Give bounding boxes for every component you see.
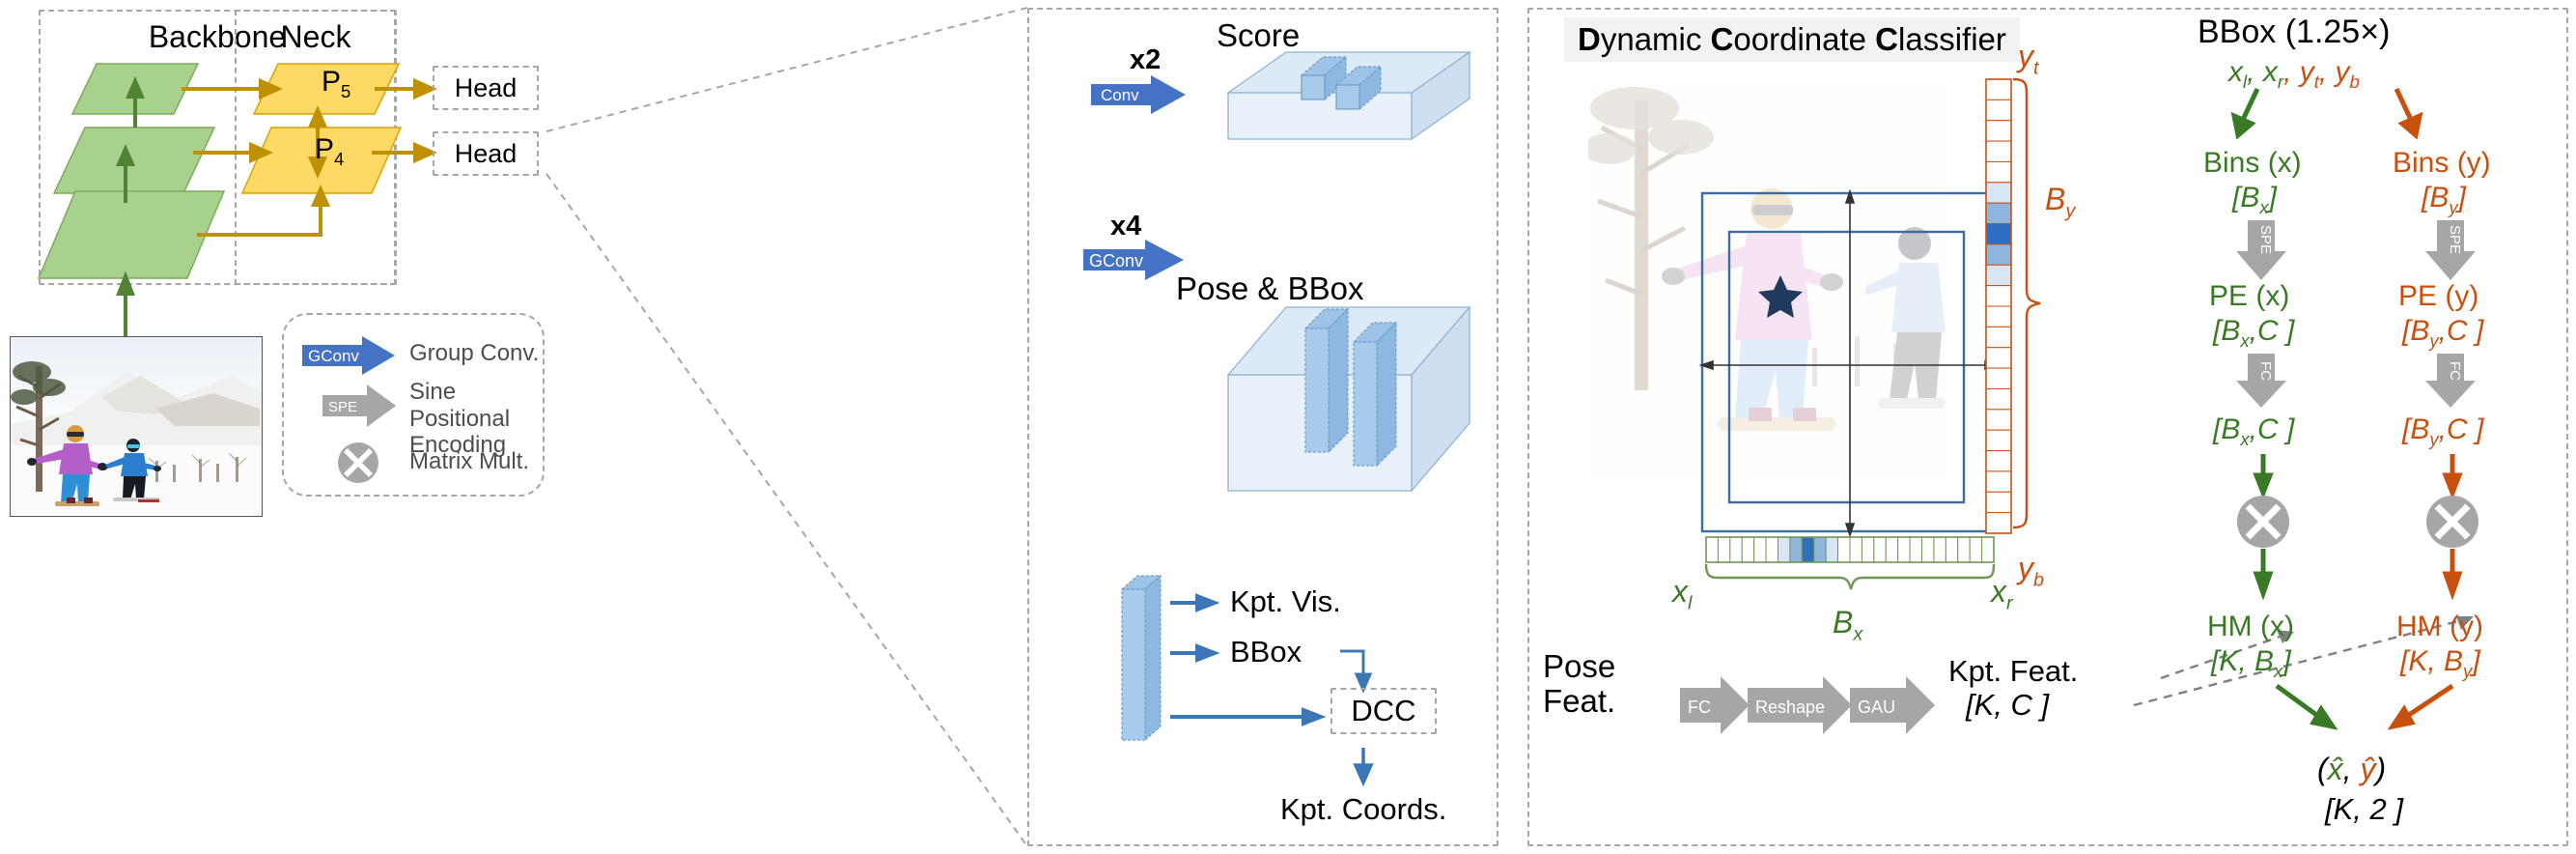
zoom-connector-lines bbox=[537, 0, 1039, 854]
y-bin-cell bbox=[1986, 410, 2011, 430]
bins-y-shape: [By] bbox=[2422, 182, 2466, 218]
pose-feat-line2: Feat. bbox=[1543, 684, 1615, 719]
coord-yb: yb bbox=[2336, 56, 2360, 88]
y-bin-cell bbox=[1986, 451, 2011, 471]
head-box-1[interactable]: Head bbox=[433, 66, 539, 110]
bins-x-shape-main: B bbox=[2240, 182, 2259, 213]
y-bottom-label: yb bbox=[2018, 551, 2044, 591]
kpt-feat-result: Kpt. Feat. [K, C ] bbox=[1948, 655, 2078, 722]
final-coords: (x̂, ŷ) bbox=[2317, 752, 2386, 787]
head-box-2[interactable]: Head bbox=[433, 131, 539, 176]
y-bin-cell bbox=[1986, 265, 2011, 285]
y-bins-main: B bbox=[2045, 182, 2065, 216]
pe-y-label: PE (y) bbox=[2398, 280, 2478, 313]
pe-x-label: PE (x) bbox=[2209, 280, 2289, 313]
reshape-arrow-label: Reshape bbox=[1755, 697, 1825, 717]
x-left-main: x bbox=[1672, 574, 1688, 609]
coord-split-arrows bbox=[2211, 89, 2539, 145]
pose-feat-source: Pose Feat. bbox=[1543, 649, 1615, 720]
x-bins-sub: x bbox=[1853, 623, 1862, 644]
gau-arrow-label: GAU bbox=[1858, 697, 1895, 717]
dcc-box-label: DCC bbox=[1351, 694, 1415, 728]
bins-y-label: Bins (y) bbox=[2393, 147, 2491, 180]
legend-label-gconv: Group Conv. bbox=[409, 340, 539, 367]
bbox-panel-title: BBox (1.25×) bbox=[2198, 14, 2390, 51]
x-left-label: xl bbox=[1672, 574, 1692, 614]
y-bin-cell bbox=[1986, 79, 2011, 100]
x-bin-cell bbox=[1718, 537, 1729, 562]
spe-arrow-y-label: SPE bbox=[2447, 225, 2463, 254]
fc-arrow-y: FC bbox=[2425, 354, 2476, 408]
pe-x-out-shape: [Bx,C ] bbox=[2213, 413, 2294, 450]
conv-arrow-label: Conv bbox=[1101, 86, 1139, 104]
kpt-vis-label: Kpt. Vis. bbox=[1230, 584, 1341, 619]
pose-bbox-multiplier: x4 bbox=[1110, 211, 1141, 242]
coord-yt: yt bbox=[2300, 56, 2319, 88]
fc-arrow-y-label: FC bbox=[2447, 361, 2463, 381]
dcc-box[interactable]: DCC bbox=[1330, 688, 1437, 734]
x-bin-cell bbox=[1826, 537, 1837, 562]
fc-arrow-x-label: FC bbox=[2257, 361, 2274, 381]
bbox-coord-tokens: xl, xr, yt, yb bbox=[2228, 56, 2360, 93]
matmul-x-node bbox=[2232, 454, 2294, 618]
input-image-scene bbox=[11, 337, 262, 516]
y-bins-sub: y bbox=[2065, 200, 2075, 221]
x-bin-cell bbox=[1802, 537, 1813, 562]
y-bin-cell bbox=[1986, 306, 2011, 327]
image-to-backbone-arrow bbox=[106, 270, 164, 348]
x-bin-cell bbox=[1922, 537, 1934, 562]
y-bins-label: By bbox=[2045, 182, 2075, 222]
x-bin-cell bbox=[1970, 537, 1981, 562]
spe-arrow-x-label: SPE bbox=[2257, 225, 2274, 254]
pose-bbox-feature-cube bbox=[1228, 307, 1479, 539]
pose-bbox-title: Pose & BBox bbox=[1176, 270, 1363, 307]
score-feature-slab bbox=[1228, 52, 1470, 192]
y-bin-cell bbox=[1986, 244, 2011, 265]
y-bin-cell bbox=[1986, 471, 2011, 492]
x-bin-cell bbox=[1946, 537, 1957, 562]
kpt-feat-label: Kpt. Feat. bbox=[1948, 655, 2078, 689]
x-bin-cell bbox=[1706, 537, 1718, 562]
head-box-1-label: Head bbox=[455, 73, 518, 103]
bins-x-shape-sub: x bbox=[2259, 197, 2268, 217]
y-bin-cell bbox=[1986, 183, 2011, 203]
y-top-sub: t bbox=[2033, 57, 2039, 78]
x-bin-cell bbox=[1898, 537, 1910, 562]
hm-merge-arrows bbox=[2259, 676, 2491, 754]
x-right-label: xr bbox=[1991, 574, 2013, 614]
conv-arrow-icon: Conv bbox=[1091, 75, 1186, 114]
expanded-bbox-rect bbox=[1702, 193, 1995, 531]
gconv-arrow-icon-head: GConv bbox=[1083, 240, 1184, 280]
gconv-arrow-icon: GConv bbox=[302, 336, 395, 375]
fc-arrow-label: FC bbox=[1688, 697, 1711, 717]
svg-text:SPE: SPE bbox=[328, 399, 357, 415]
x-bin-cell bbox=[1934, 537, 1946, 562]
pe-x-shape: [Bx,C ] bbox=[2213, 315, 2294, 352]
x-bin-cell bbox=[1862, 537, 1873, 562]
matrix-mult-icon bbox=[336, 441, 380, 485]
coord-xr: xr bbox=[2263, 56, 2283, 88]
x-bin-cell bbox=[1910, 537, 1921, 562]
kpt-feat-shape: [K, C ] bbox=[1948, 689, 2078, 723]
y-top-label: yt bbox=[2018, 39, 2039, 79]
legend-label-spe: Sine Positional Encoding bbox=[409, 379, 537, 459]
score-title: Score bbox=[1217, 17, 1300, 54]
x-bin-cell bbox=[1838, 537, 1850, 562]
y-top-main: y bbox=[2018, 39, 2033, 73]
x-right-main: x bbox=[1991, 574, 2006, 609]
coord-xl: xl bbox=[2228, 56, 2247, 88]
matmul-y-node bbox=[2422, 454, 2483, 618]
bins-y-shape-sub: y bbox=[2449, 197, 2457, 217]
x-bin-cell bbox=[1730, 537, 1742, 562]
y-bin-cell bbox=[1986, 348, 2011, 368]
x-bin-cell bbox=[1790, 537, 1802, 562]
hm-y-label: HM (y) bbox=[2396, 611, 2483, 643]
bbox-output-label: BBox bbox=[1230, 635, 1302, 669]
y-brace bbox=[2011, 75, 2046, 549]
x-bins-label: Bx bbox=[1833, 605, 1862, 645]
x-bin-cell bbox=[1742, 537, 1753, 562]
pose-feat-line1: Pose bbox=[1543, 649, 1615, 684]
x-bin-cell bbox=[1814, 537, 1826, 562]
bins-x-shape: [Bx] bbox=[2232, 182, 2277, 218]
x-right-sub: r bbox=[2006, 592, 2013, 613]
y-bottom-sub: b bbox=[2033, 569, 2044, 590]
x-bin-cell bbox=[1874, 537, 1886, 562]
y-bin-cell bbox=[1986, 224, 2011, 244]
head-box-2-label: Head bbox=[455, 139, 518, 169]
x-bin-cell bbox=[1766, 537, 1778, 562]
final-shape: [K, 2 ] bbox=[2325, 792, 2403, 827]
fc-arrow-x: FC bbox=[2236, 354, 2286, 408]
final-x-hat: x̂ bbox=[2328, 752, 2343, 786]
spe-arrow-y: SPE bbox=[2425, 220, 2476, 280]
y-bin-cell bbox=[1986, 203, 2011, 223]
x-bin-cell bbox=[1778, 537, 1790, 562]
svg-text:GConv: GConv bbox=[308, 347, 359, 365]
kpt-coords-label: Kpt. Coords. bbox=[1280, 792, 1446, 827]
ground-truth-bbox-rect bbox=[1729, 232, 1964, 502]
x-bin-cell bbox=[1886, 537, 1897, 562]
bins-x-label: Bins (x) bbox=[2203, 147, 2302, 180]
y-bin-cell bbox=[1986, 430, 2011, 450]
hm-x-label: HM (x) bbox=[2207, 611, 2294, 643]
x-bin-cell bbox=[1850, 537, 1862, 562]
x-bin-cell bbox=[1958, 537, 1970, 562]
y-bin-cell bbox=[1986, 388, 2011, 409]
score-multiplier: x2 bbox=[1130, 44, 1161, 76]
y-bottom-main: y bbox=[2018, 551, 2033, 585]
y-bin-cell bbox=[1986, 492, 2011, 512]
gconv-arrow-label: GConv bbox=[1089, 251, 1143, 270]
spe-arrow-icon: SPE bbox=[322, 384, 396, 427]
y-bin-cell bbox=[1986, 513, 2011, 533]
pe-y-out-shape: [By,C ] bbox=[2402, 413, 2483, 450]
pe-y-shape: [By,C ] bbox=[2402, 315, 2483, 352]
x-bin-cell bbox=[1754, 537, 1766, 562]
x-bins-main: B bbox=[1833, 605, 1853, 640]
input-image bbox=[10, 336, 263, 517]
final-y-hat: ŷ bbox=[2360, 752, 2375, 786]
x-brace bbox=[1702, 562, 2003, 595]
spe-arrow-x: SPE bbox=[2236, 220, 2286, 280]
bins-y-shape-main: B bbox=[2429, 182, 2449, 213]
y-bin-cell bbox=[1986, 121, 2011, 141]
y-bin-cell bbox=[1986, 327, 2011, 347]
keypoint-star-marker bbox=[1758, 275, 1803, 318]
x-left-sub: l bbox=[1688, 592, 1692, 613]
y-bin-cell bbox=[1986, 368, 2011, 388]
y-bin-cell bbox=[1986, 141, 2011, 161]
y-bin-cell bbox=[1986, 286, 2011, 306]
y-bin-cell bbox=[1986, 161, 2011, 182]
legend-label-matmul: Matrix Mult. bbox=[409, 448, 529, 475]
y-bin-cell bbox=[1986, 100, 2011, 120]
